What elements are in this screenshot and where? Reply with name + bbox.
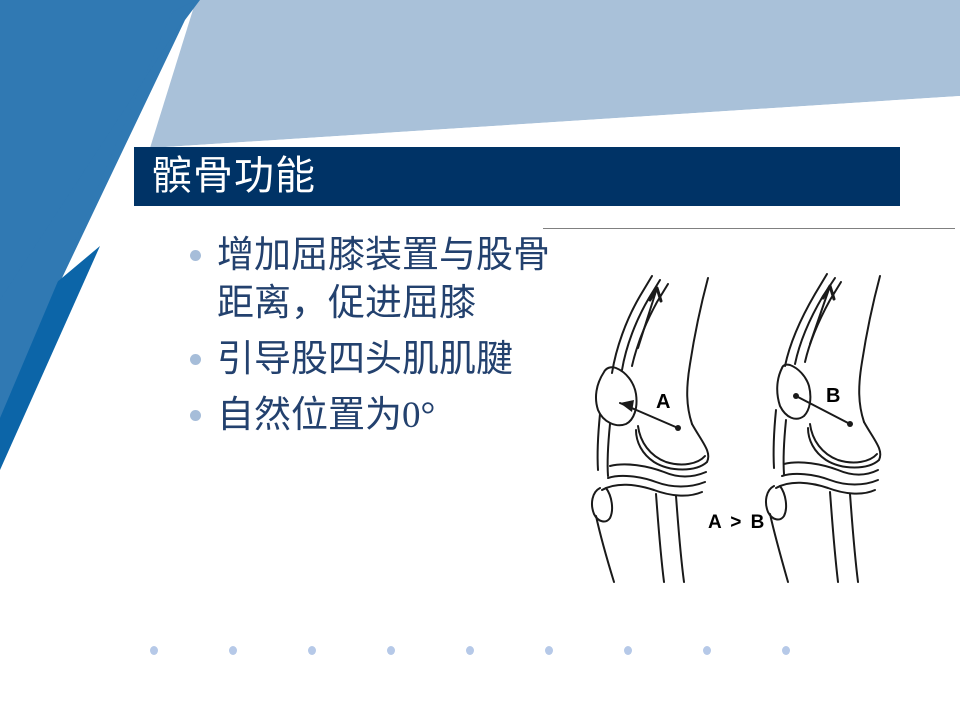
light-blue-band-shape (150, 0, 960, 148)
leader-origin-right (793, 393, 799, 399)
page-title: 髌骨功能 (152, 156, 316, 196)
tibia-shaft-right (770, 514, 788, 582)
dark-blue-sliver-shape (0, 0, 196, 418)
patellar-tendon-right (774, 410, 776, 468)
bullet-dot-icon (190, 250, 201, 261)
tension-arrow-left (638, 288, 657, 348)
footer-dot-icon (229, 646, 237, 655)
footer-dot-icon (308, 646, 316, 655)
patellar-tendon2-left (608, 424, 610, 476)
patellar-tendon-left (598, 414, 600, 470)
tibia-shaft2-right (830, 492, 838, 582)
footer-dot-icon (624, 646, 632, 655)
leader-line-right (796, 396, 850, 424)
tibia-shaft2-left (656, 494, 664, 582)
femur-shaft-right (859, 276, 880, 422)
footer-dot-icon (387, 646, 395, 655)
femoral-condyle-inner-left (638, 426, 705, 464)
list-item: 自然位置为0° (190, 392, 550, 440)
patellar-tendon2-right (784, 420, 786, 474)
quad-tendon-line3-right (805, 282, 841, 362)
figure-divider-rule (543, 228, 955, 229)
femur-shaft-left (687, 278, 708, 424)
joint-line-left (610, 464, 706, 476)
tibial-tuberosity-left (592, 488, 612, 521)
list-item: 增加屈膝装置与股骨距离，促进屈膝 (190, 232, 550, 328)
list-item: 引导股四头肌肌腱 (190, 336, 550, 384)
figure-label-a: A (656, 391, 670, 413)
dark-blue-wedge-shape (0, 246, 100, 470)
joint-line-right (784, 462, 878, 474)
patella-left (596, 367, 637, 425)
femoral-condyle-inner-right (810, 424, 877, 462)
tibia-shaft-left (596, 516, 614, 582)
bullet-item-label: 引导股四头肌肌腱 (217, 336, 550, 384)
knee-anatomy-figure: A B A > B (560, 238, 950, 588)
footer-dot-icon (703, 646, 711, 655)
bullet-list: 增加屈膝装置与股骨距离，促进屈膝 引导股四头肌肌腱 自然位置为0° (190, 232, 550, 448)
fibula-right (850, 494, 858, 582)
leader-dot-left (675, 425, 681, 431)
leader-dot-right (847, 421, 853, 427)
footer-dot-strip (0, 646, 960, 660)
footer-dot-icon (782, 646, 790, 655)
footer-dot-icon (545, 646, 553, 655)
bullet-dot-icon (190, 410, 201, 421)
footer-dot-icon (466, 646, 474, 655)
figure-caption: A > B (708, 512, 766, 533)
bullet-item-label: 增加屈膝装置与股骨距离，促进屈膝 (217, 232, 550, 328)
leader-arrowhead-left (620, 400, 634, 412)
bullet-item-label: 自然位置为0° (217, 392, 550, 440)
tibial-tuberosity-right (766, 486, 786, 519)
slide-title-bar: 髌骨功能 (134, 147, 900, 206)
bullet-dot-icon (190, 354, 201, 365)
presentation-slide: 髌骨功能 增加屈膝装置与股骨距离，促进屈膝 引导股四头肌肌腱 自然位置为0° (0, 0, 960, 720)
footer-dot-icon (150, 646, 158, 655)
patella-right (777, 365, 810, 419)
figure-label-b: B (826, 385, 840, 407)
fibula-left (676, 496, 684, 582)
